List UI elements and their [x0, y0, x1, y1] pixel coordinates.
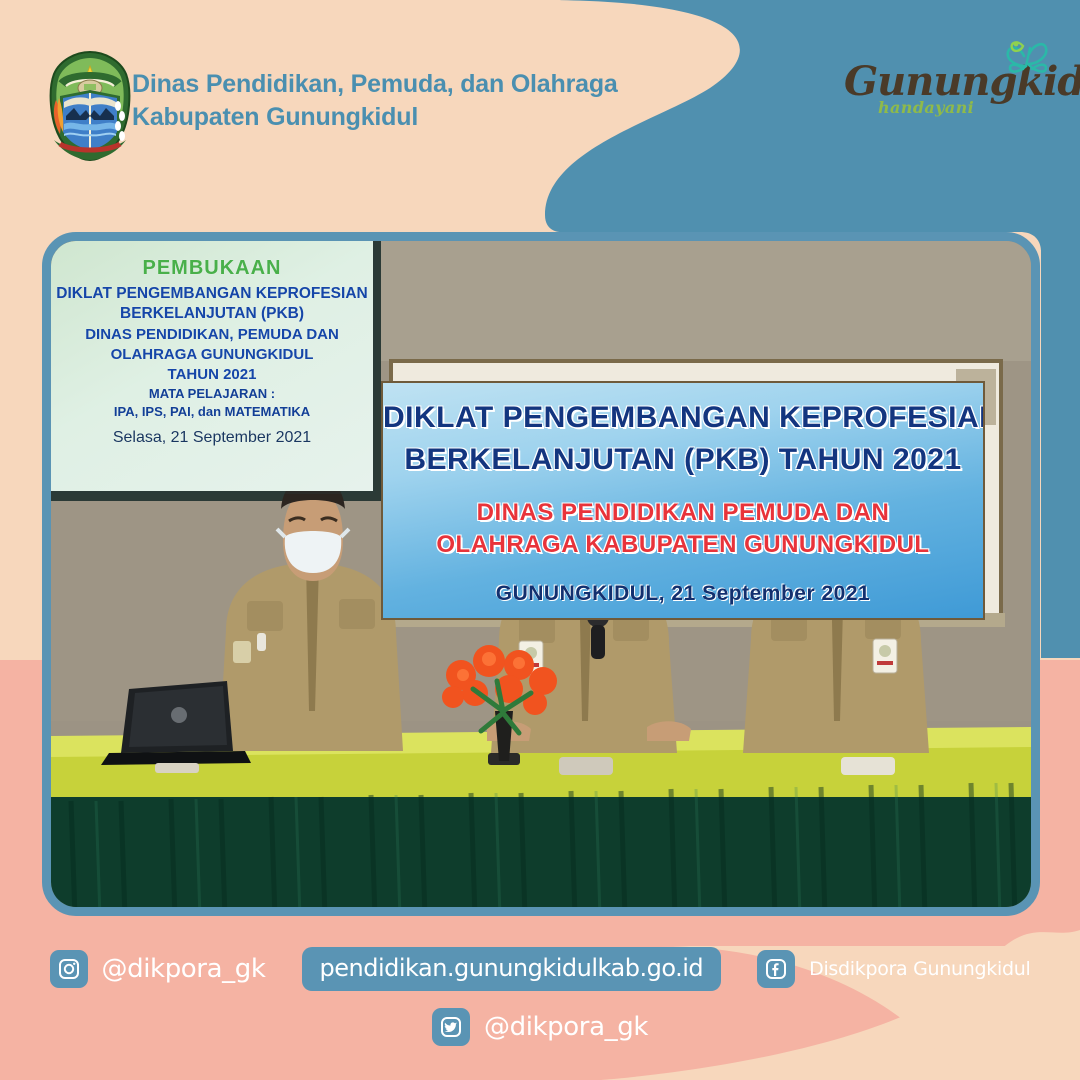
banner-line-5: GUNUNGKIDUL, 21 September 2021 [383, 583, 983, 604]
event-photo: PEMBUKAAN DIKLAT PENGEMBANGAN KEPROFESIA… [51, 241, 1031, 907]
projector-slide: PEMBUKAAN DIKLAT PENGEMBANGAN KEPROFESIA… [51, 241, 373, 491]
slide-line-1: DIKLAT PENGEMBANGAN KEPROFESIAN [51, 285, 373, 302]
banner-line-1: DIKLAT PENGEMBANGAN KEPROFESIAN [383, 403, 983, 433]
social-footer: @dikpora_gk pendidikan.gunungkidulkab.go… [0, 946, 1080, 1066]
website-url-pill[interactable]: pendidikan.gunungkidulkab.go.id [302, 947, 722, 991]
banner-line-4: OLAHRAGA KABUPATEN GUNUNGKIDUL [383, 533, 983, 557]
social-row-primary: @dikpora_gk pendidikan.gunungkidulkab.go… [0, 946, 1080, 992]
brand-tagline: handayani [878, 98, 974, 117]
gunungkidul-brand-logo: Gunungkidul handayani [836, 36, 1058, 132]
slide-line-2: BERKELANJUTAN (PKB) [51, 305, 373, 322]
header: Dinas Pendidikan, Pemuda, dan Olahraga K… [0, 0, 1080, 200]
slide-heading: PEMBUKAAN [51, 257, 373, 279]
twitter-icon[interactable] [432, 1008, 470, 1046]
event-photo-card: PEMBUKAAN DIKLAT PENGEMBANGAN KEPROFESIA… [42, 232, 1040, 916]
instagram-handle[interactable]: @dikpora_gk [102, 954, 266, 984]
gunungkidul-butterfly-mark-icon [996, 32, 1056, 92]
slide-line-5: TAHUN 2021 [51, 367, 373, 384]
department-title: Dinas Pendidikan, Pemuda, dan Olahraga K… [132, 68, 692, 134]
facebook-icon[interactable] [757, 950, 795, 988]
slide-line-7: IPA, IPS, PAI, dan MATEMATIKA [51, 405, 373, 420]
poster-canvas: Dinas Pendidikan, Pemuda, dan Olahraga K… [0, 0, 1080, 1080]
twitter-handle[interactable]: @dikpora_gk [484, 1012, 648, 1042]
banner-line-2: BERKELANJUTAN (PKB) TAHUN 2021 [383, 445, 983, 475]
slide-line-3: DINAS PENDIDIKAN, PEMUDA DAN [51, 327, 373, 344]
slide-line-6: MATA PELAJARAN : [51, 387, 373, 402]
banner-line-3: DINAS PENDIDIKAN PEMUDA DAN [383, 501, 983, 525]
facebook-handle[interactable]: Disdikpora Gunungkidul [809, 958, 1030, 980]
slide-date: Selasa, 21 September 2021 [51, 429, 373, 447]
slide-line-4: OLAHRAGA GUNUNGKIDUL [51, 347, 373, 364]
department-title-line-2: Kabupaten Gunungkidul [132, 101, 692, 134]
event-banner: DIKLAT PENGEMBANGAN KEPROFESIAN BERKELAN… [381, 381, 985, 620]
social-row-secondary: @dikpora_gk [0, 1004, 1080, 1050]
instagram-icon[interactable] [50, 950, 88, 988]
gunungkidul-regency-crest-icon [46, 50, 134, 162]
department-title-line-1: Dinas Pendidikan, Pemuda, dan Olahraga [132, 70, 618, 98]
